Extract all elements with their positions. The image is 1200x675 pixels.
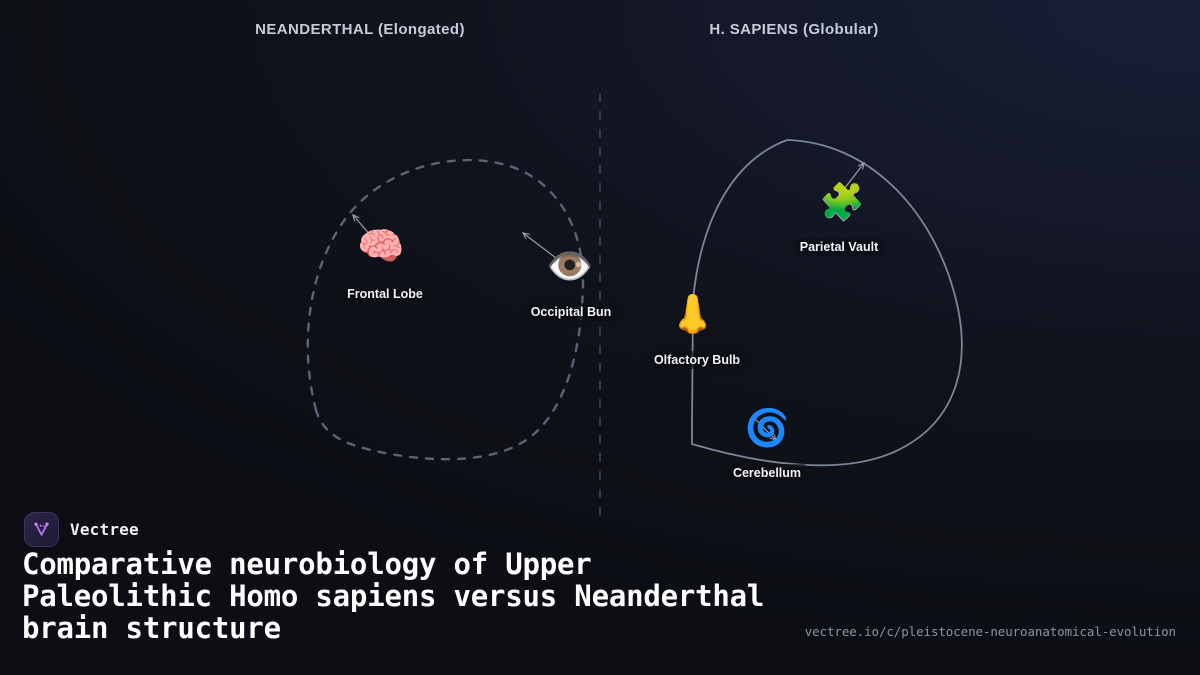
node-label-frontal-lobe: Frontal Lobe — [340, 285, 430, 303]
brain-emoji: 🧠 — [357, 228, 404, 266]
source-url: vectree.io/c/pleistocene-neuroanatomical… — [805, 624, 1176, 639]
headline-title: Comparative neurobiology of Upper Paleol… — [22, 548, 782, 644]
node-label-occipital-bun: Occipital Bun — [524, 303, 619, 321]
eye-emoji: 👁️ — [546, 248, 593, 286]
brand-name: Vectree — [70, 520, 139, 539]
node-label-cerebellum: Cerebellum — [726, 464, 808, 482]
infographic-canvas: NEANDERTHAL (Elongated) H. SAPIENS (Glob… — [0, 0, 1200, 675]
node-label-parietal-vault: Parietal Vault — [793, 238, 886, 256]
brand-row: Vectree — [24, 512, 139, 547]
node-label-olfactory-bulb: Olfactory Bulb — [647, 351, 747, 369]
leader-arrows — [353, 163, 864, 440]
vectree-v-logo-icon — [24, 512, 59, 547]
puzzle-piece-emoji: 🧩 — [820, 184, 865, 220]
nose-emoji: 👃 — [669, 296, 716, 334]
cyclone-spiral-emoji: 🌀 — [745, 410, 790, 446]
